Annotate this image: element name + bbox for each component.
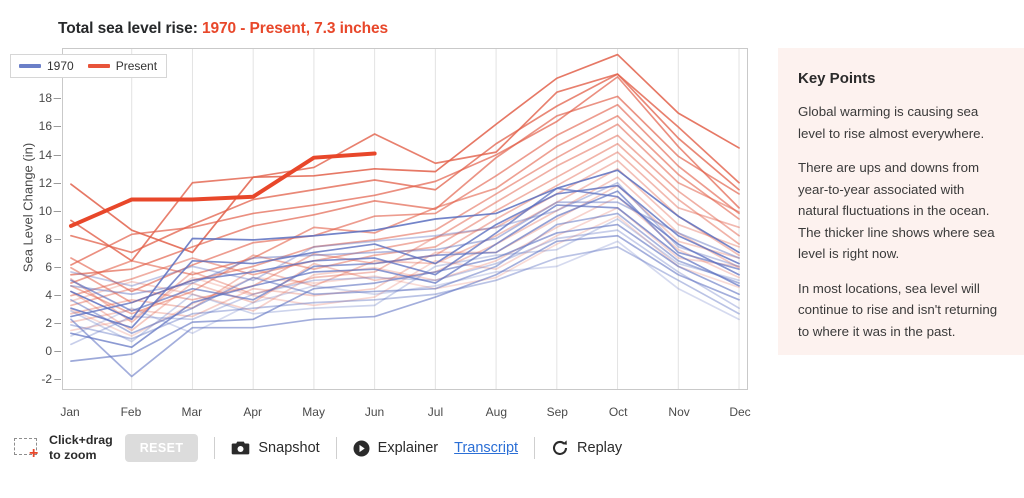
key-points-title: Key Points	[798, 70, 1004, 87]
y-tick-mark	[57, 267, 61, 268]
snapshot-label: Snapshot	[258, 441, 319, 456]
explainer-label: Explainer	[378, 441, 438, 456]
title-highlight: 1970 - Present, 7.3 inches	[202, 20, 388, 37]
replay-button[interactable]: Replay	[551, 439, 622, 457]
chart-container: Sea Level Change (in) -20246810121416182…	[0, 40, 770, 415]
x-tick-jan: Jan	[60, 405, 79, 419]
page-title: Total sea level rise: 1970 - Present, 7.…	[58, 20, 388, 38]
refresh-icon	[551, 439, 569, 457]
y-tick-mark	[57, 126, 61, 127]
explainer-button[interactable]: Explainer Transcript	[353, 440, 518, 457]
zoom-hint-line-1: Click+drag	[49, 433, 113, 447]
legend-item-present[interactable]: Present	[88, 60, 157, 72]
y-tick-mark	[57, 239, 61, 240]
y-axis-label: Sea Level Change (in)	[21, 118, 36, 298]
y-tick-10: 10	[39, 204, 52, 218]
transcript-link[interactable]: Transcript	[454, 440, 518, 456]
legend-swatch-1970	[19, 64, 41, 68]
x-tick-oct: Oct	[609, 405, 628, 419]
legend-item-1970[interactable]: 1970	[19, 60, 74, 72]
camera-icon	[231, 440, 250, 456]
x-tick-apr: Apr	[243, 405, 262, 419]
y-tick-mark	[57, 211, 61, 212]
zoom-controls: + Click+drag to zoom RESET	[14, 433, 198, 462]
snapshot-button[interactable]: Snapshot	[231, 440, 319, 456]
y-tick-8: 8	[45, 232, 52, 246]
toolbar-divider-3	[534, 437, 535, 459]
title-prefix: Total sea level rise:	[58, 20, 202, 37]
y-tick-mark	[57, 351, 61, 352]
key-points-paragraph-1: Global warming is causing sea level to r…	[798, 101, 1004, 144]
y-tick-12: 12	[39, 176, 52, 190]
y-tick-4: 4	[45, 288, 52, 302]
y-tick-mark	[57, 295, 61, 296]
key-points-paragraph-2: There are ups and downs from year-to-yea…	[798, 157, 1004, 265]
legend-swatch-present	[88, 64, 110, 68]
replay-label: Replay	[577, 441, 622, 456]
zoom-marquee-icon: +	[14, 438, 42, 459]
toolbar-divider-1	[214, 437, 215, 459]
x-tick-sep: Sep	[547, 405, 568, 419]
x-tick-feb: Feb	[121, 405, 142, 419]
y-tick-mark	[57, 183, 61, 184]
legend-label-1970: 1970	[47, 60, 74, 72]
y-tick--2: -2	[41, 372, 52, 386]
x-tick-aug: Aug	[486, 405, 507, 419]
toolbar-divider-2	[336, 437, 337, 459]
play-circle-icon	[353, 440, 370, 457]
y-tick-16: 16	[39, 119, 52, 133]
zoom-hint-text: Click+drag to zoom	[49, 433, 113, 462]
legend-label-present: Present	[116, 60, 157, 72]
y-tick-0: 0	[45, 344, 52, 358]
plot-area[interactable]	[62, 48, 748, 390]
y-tick-2: 2	[45, 316, 52, 330]
sea-level-visualization: Total sea level rise: 1970 - Present, 7.…	[0, 0, 1024, 498]
x-tick-mar: Mar	[181, 405, 202, 419]
y-tick-mark	[57, 323, 61, 324]
zoom-hint-line-2: to zoom	[49, 448, 97, 462]
x-tick-may: May	[302, 405, 325, 419]
y-tick-mark	[57, 155, 61, 156]
x-tick-nov: Nov	[668, 405, 689, 419]
chart-lines	[63, 49, 747, 389]
y-tick-mark	[57, 98, 61, 99]
click-drag-zoom-hint: + Click+drag to zoom	[14, 433, 113, 462]
y-tick-6: 6	[45, 260, 52, 274]
key-points-paragraph-3: In most locations, sea level will contin…	[798, 278, 1004, 343]
x-tick-dec: Dec	[729, 405, 750, 419]
y-tick-mark	[57, 379, 61, 380]
key-points-panel: Key Points Global warming is causing sea…	[778, 48, 1024, 355]
chart-toolbar: + Click+drag to zoom RESET Snapshot	[14, 430, 622, 466]
y-tick-18: 18	[39, 91, 52, 105]
x-tick-jul: Jul	[428, 405, 443, 419]
y-tick-14: 14	[39, 148, 52, 162]
chart-legend[interactable]: 1970 Present	[10, 54, 167, 78]
reset-button[interactable]: RESET	[125, 434, 199, 462]
x-tick-jun: Jun	[365, 405, 384, 419]
